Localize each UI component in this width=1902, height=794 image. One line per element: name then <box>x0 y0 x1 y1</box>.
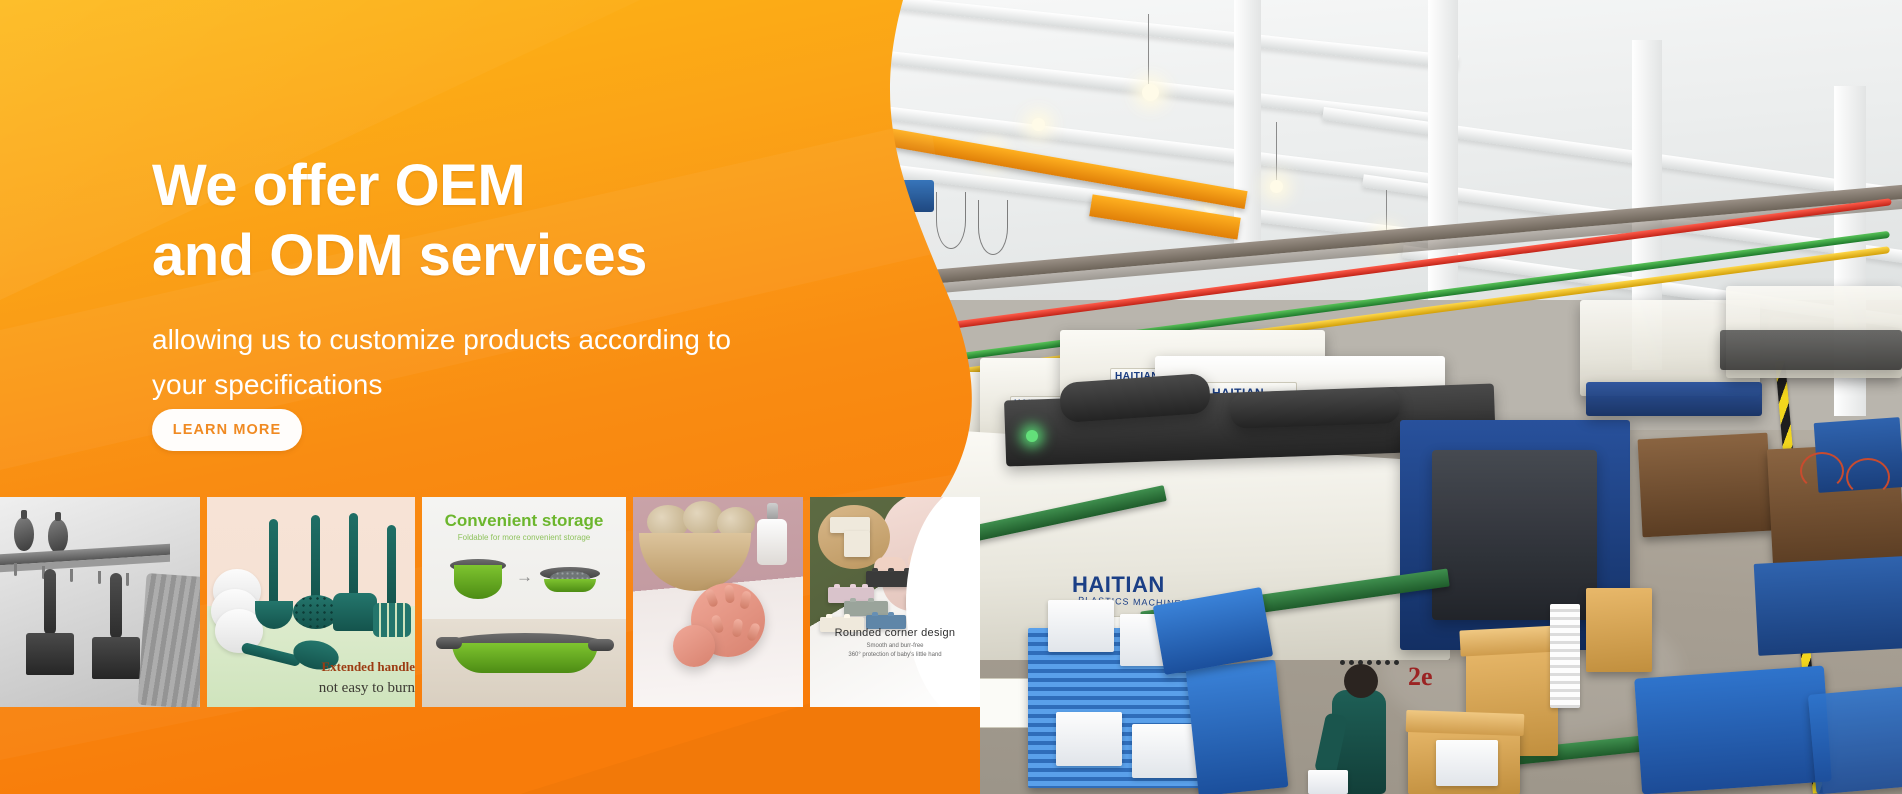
spatula-blade <box>92 637 140 679</box>
skimmer-handle <box>311 515 320 603</box>
hose <box>1846 458 1890 496</box>
box-flap <box>1406 710 1525 736</box>
machine-model-label: 2e <box>1408 662 1433 692</box>
blue-panel <box>1186 660 1289 794</box>
block <box>844 601 888 616</box>
lamp-wire <box>1386 190 1387 234</box>
cutting-board <box>137 573 200 707</box>
spatula-handle <box>110 573 122 639</box>
subtitle: allowing us to customize products accord… <box>152 317 912 407</box>
thumbnail-caption-primary: Convenient storage <box>422 511 626 531</box>
blue-pallet <box>1808 685 1902 794</box>
thumbnail-collapsible-colander[interactable]: Convenient storage Foldable for more con… <box>422 497 626 707</box>
product-thumbnail-strip: Extended handle not easy to burn Conveni… <box>0 497 980 707</box>
spatula-blade <box>26 633 74 675</box>
cardboard-box <box>1586 588 1652 672</box>
subtitle-line-2: your specifications <box>152 369 382 400</box>
headline-line-1: We offer OEM <box>152 153 525 218</box>
machine-tie-bar <box>1229 387 1400 429</box>
white-sheet <box>1132 724 1198 778</box>
worker-held-sheet <box>1308 770 1348 794</box>
block-inset <box>844 531 870 557</box>
headline-line-2: and ODM services <box>152 223 647 288</box>
blue-pallet <box>1634 666 1832 794</box>
ladle-handle <box>269 519 278 611</box>
colander-handle <box>588 639 614 651</box>
soap-dispenser <box>757 519 787 565</box>
thumbnail-caption-secondary: not easy to burn <box>207 680 415 697</box>
oem-odm-hero-banner: HAITIAN HAITIAN HAITIAN HAITIAN PLASTICS… <box>0 0 1902 794</box>
box-flap <box>1459 625 1560 656</box>
thumbnail-caption-primary: Rounded corner design <box>810 627 980 639</box>
transform-arrow-icon: → <box>516 567 533 587</box>
pillar <box>1234 0 1261 250</box>
tool-rack-blue <box>1754 556 1902 656</box>
ceiling-lamp <box>1270 180 1283 193</box>
background-machine-part <box>1720 330 1902 370</box>
lamp-wire <box>1276 122 1277 182</box>
hook <box>14 563 17 576</box>
hose <box>1800 452 1844 490</box>
white-product-stack <box>1550 604 1580 708</box>
massager-spike <box>724 585 735 604</box>
wooden-bowl <box>639 533 751 591</box>
massager-grip <box>673 625 715 667</box>
machine-dot-row <box>1340 660 1399 665</box>
colander-handle <box>436 637 462 649</box>
colander-collapsed <box>544 579 596 592</box>
worker-head <box>1344 664 1378 698</box>
hook <box>70 569 73 582</box>
dispenser-pump <box>767 503 778 520</box>
background-machine-base <box>1586 382 1762 416</box>
thumbnail-caption-secondary: Smooth and burr-free <box>810 643 980 649</box>
turner-handle <box>349 513 358 599</box>
tool-rack <box>1638 433 1773 538</box>
thumbnail-caption-tertiary: 360° protection of baby's little hand <box>810 652 980 658</box>
hook <box>98 571 101 584</box>
page-title: We offer OEM and ODM services <box>152 151 852 291</box>
subtitle-line-1: allowing us to customize products accord… <box>152 324 731 355</box>
machine-window <box>1432 450 1597 620</box>
slotted-turner-handle <box>387 525 396 609</box>
spatula-handle <box>44 569 56 635</box>
white-sheet <box>1436 740 1498 786</box>
machine-brand-label: HAITIAN <box>1072 574 1165 596</box>
turner-head <box>333 593 377 631</box>
colander-expanded <box>454 565 502 599</box>
thumbnail-kitchen-spatulas[interactable] <box>0 497 200 707</box>
thumbnail-teal-utensil-set[interactable]: Extended handle not easy to burn <box>207 497 415 707</box>
ceiling-lamp <box>1142 84 1159 101</box>
vase <box>48 519 68 553</box>
vase <box>14 517 34 551</box>
hook <box>126 573 129 586</box>
colander-large-body <box>452 643 598 673</box>
learn-more-button[interactable]: LEARN MORE <box>152 409 302 451</box>
slotted-turner-head <box>373 603 411 637</box>
thumbnail-scalp-massager[interactable] <box>633 497 803 707</box>
thumbnail-baby-building-blocks[interactable]: Rounded corner design Smooth and burr-fr… <box>810 497 980 707</box>
thumbnail-caption-primary: Extended handle <box>207 659 415 675</box>
thumbnail-caption-secondary: Foldable for more convenient storage <box>422 533 626 542</box>
lamp-wire <box>1148 14 1149 84</box>
